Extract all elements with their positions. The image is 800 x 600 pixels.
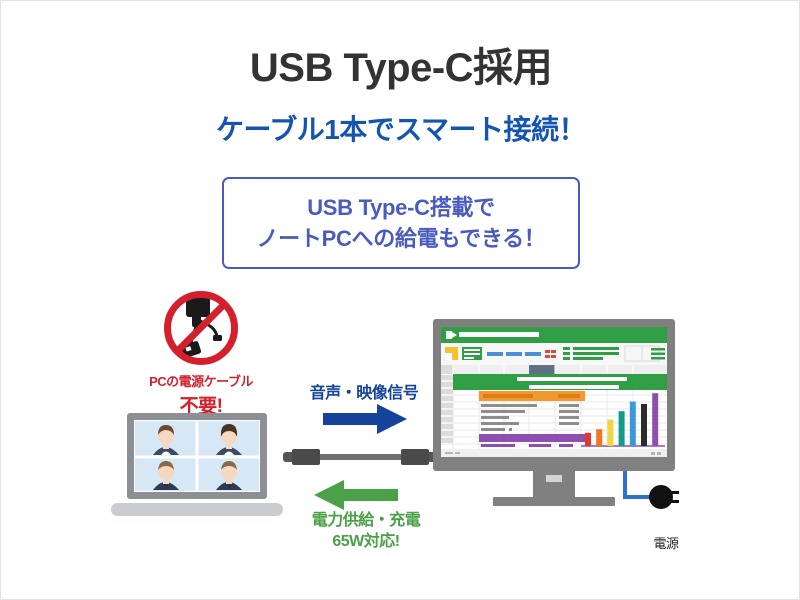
- callout-line-1: USB Type-C搭載で: [307, 194, 495, 222]
- page-title: USB Type-C採用: [1, 35, 800, 93]
- no-power-cable-label-1: PCの電源ケーブル: [141, 371, 261, 390]
- bar-7: [652, 393, 658, 446]
- bar-1: [585, 433, 591, 446]
- prohibition-ring: [164, 291, 238, 365]
- bar-4: [619, 411, 625, 446]
- callout-line-2: ノートPCへの給電もできる！: [256, 225, 545, 253]
- laptop-video-conference-icon: [109, 411, 285, 528]
- power-plug-icon: [649, 485, 679, 509]
- signal-label: 音声・映像信号: [289, 379, 439, 403]
- callout-box: USB Type-C搭載で ノートPCへの給電もできる！: [222, 177, 580, 269]
- bar-3: [607, 420, 613, 446]
- power-label: 電力供給・充電 65W対応!: [286, 511, 446, 553]
- power-label-line-1: 電力供給・充電: [286, 511, 446, 532]
- signal-arrow-right-icon: [323, 404, 407, 434]
- bar-6: [641, 404, 647, 446]
- infographic-canvas: USB Type-C採用 ケーブル1本でスマート接続！ USB Type-C搭載…: [0, 0, 800, 600]
- no-power-cable-badge: PCの電源ケーブル 不要!: [141, 289, 261, 418]
- usb-type-c-cable-icon: [282, 445, 439, 469]
- bar-5: [630, 402, 636, 446]
- prohibition-ac-adapter-icon: [162, 289, 240, 367]
- bar-2: [596, 429, 602, 446]
- page-subtitle: ケーブル1本でスマート接続！: [1, 108, 800, 148]
- power-plug-label: 電源: [631, 533, 701, 552]
- monitor-glyph: [429, 319, 679, 509]
- laptop-glyph: [109, 411, 285, 523]
- power-arrow-left-icon: [314, 480, 398, 510]
- desktop-monitor-icon: [429, 319, 679, 514]
- power-label-line-2: 65W対応!: [286, 532, 446, 553]
